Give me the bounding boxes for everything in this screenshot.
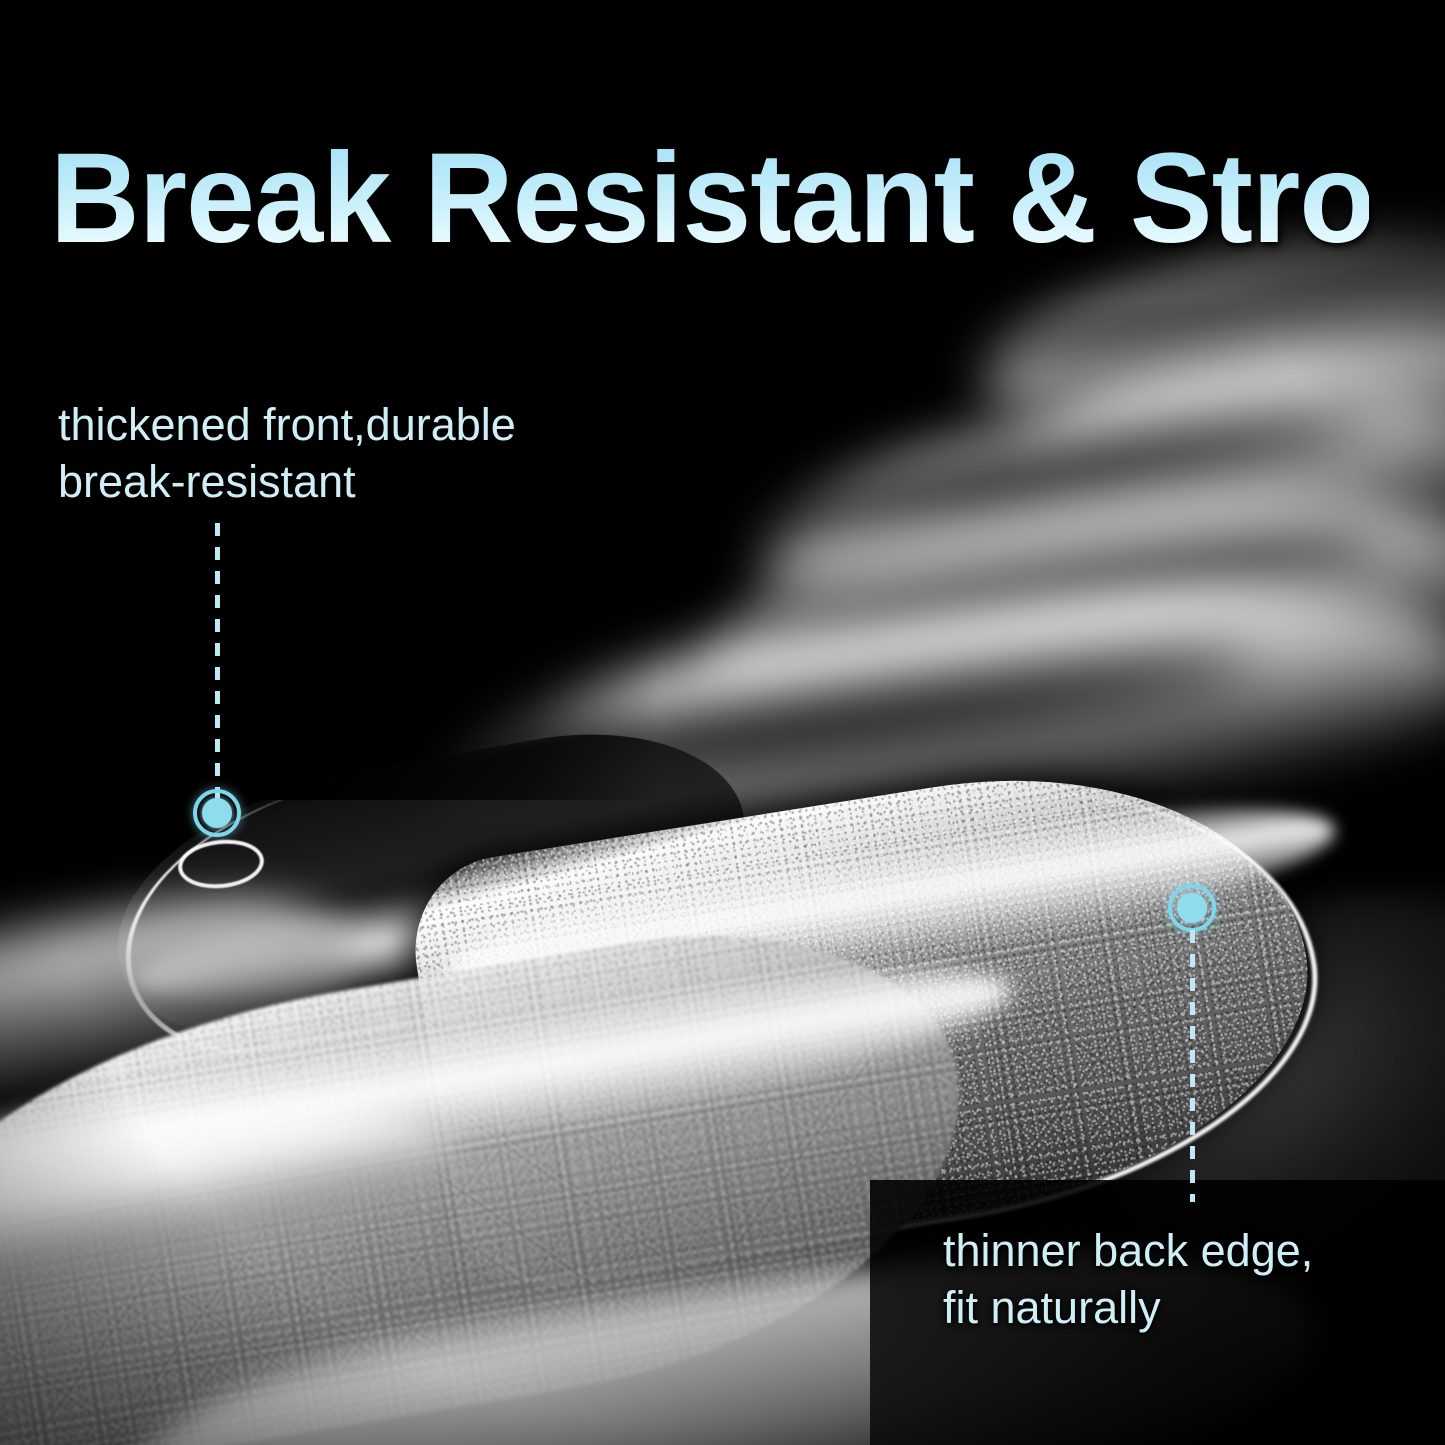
leader-line-thinner-back-edge <box>1190 930 1195 1202</box>
callout-label-thinner-back-edge: thinner back edge, fit naturally <box>943 1222 1313 1336</box>
product-feature-image: Break Resistant & Strong thickened front… <box>0 0 1445 1445</box>
headline: Break Resistant & Strong <box>50 139 1369 259</box>
leader-line-thickened-front <box>215 523 220 805</box>
callout-label-thickened-front: thickened front,durable break-resistant <box>58 396 516 510</box>
callout-marker-thinner-back-edge[interactable] <box>1168 884 1216 932</box>
callout-marker-thickened-front[interactable] <box>193 789 241 837</box>
